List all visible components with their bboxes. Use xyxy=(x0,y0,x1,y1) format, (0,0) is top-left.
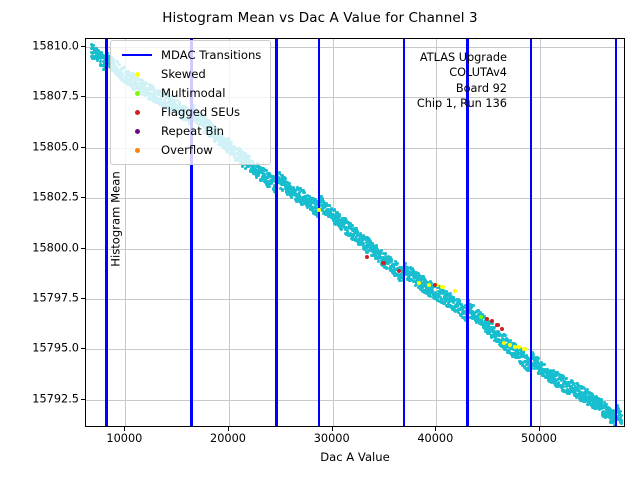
x-axis-ticks: 1000020000300004000050000 xyxy=(85,427,625,451)
flagged-seu-point xyxy=(500,327,504,331)
legend-line-swatch xyxy=(122,54,152,56)
legend-item-skewed[interactable]: Skewed xyxy=(118,65,261,83)
legend-label: Repeat Bin xyxy=(161,124,224,138)
mdac-transition-line xyxy=(530,39,532,426)
legend-key-marker xyxy=(118,72,156,77)
x-tick-mark xyxy=(539,427,540,431)
mdac-transition-line xyxy=(615,39,617,426)
gridline-horizontal xyxy=(86,249,624,250)
gridline-horizontal xyxy=(86,198,624,199)
data-point xyxy=(620,420,623,423)
x-tick-label: 40000 xyxy=(417,432,453,445)
data-point xyxy=(268,185,271,188)
legend-item-repeat-bin[interactable]: Repeat Bin xyxy=(118,122,261,140)
y-axis-ticks: 15792.515795.015797.515800.015802.515805… xyxy=(0,38,85,427)
mdac-transition-line xyxy=(318,39,320,426)
multimodal-point xyxy=(479,315,483,319)
legend-item-flagged-seus[interactable]: Flagged SEUs xyxy=(118,103,261,121)
x-tick-mark xyxy=(124,427,125,431)
annotation-block: ATLAS UpgradeCOLUTAv4Board 92Chip 1, Run… xyxy=(417,50,507,112)
data-point xyxy=(619,410,622,413)
figure-canvas: Histogram Mean vs Dac A Value for Channe… xyxy=(0,0,640,480)
legend-label: Overflow xyxy=(161,143,213,157)
gridline-horizontal xyxy=(86,299,624,300)
data-point xyxy=(543,363,546,366)
legend-label: Skewed xyxy=(161,67,206,81)
legend-label: MDAC Transitions xyxy=(161,48,261,62)
mdac-transition-line xyxy=(403,39,405,426)
legend-dot-swatch xyxy=(135,72,140,77)
annotation-line: ATLAS Upgrade xyxy=(417,50,507,65)
y-tick-label: 15795.0 xyxy=(32,342,79,355)
data-point xyxy=(396,262,399,265)
skewed-point xyxy=(453,289,457,293)
legend-key-marker xyxy=(118,110,156,115)
data-point xyxy=(338,213,341,216)
y-tick-label: 15800.0 xyxy=(32,241,79,254)
x-tick-label: 20000 xyxy=(210,432,246,445)
mdac-transition-line xyxy=(105,39,107,426)
x-tick-mark xyxy=(332,427,333,431)
legend-dot-swatch xyxy=(135,129,140,134)
gridline-horizontal xyxy=(86,349,624,350)
data-point xyxy=(565,377,568,380)
flagged-seu-point xyxy=(381,261,385,265)
legend-dot-swatch xyxy=(135,91,140,96)
data-point xyxy=(290,196,293,199)
legend-key-marker xyxy=(118,129,156,134)
legend-label: Multimodal xyxy=(161,86,225,100)
legend-key-marker xyxy=(118,148,156,153)
skewed-point xyxy=(522,347,526,351)
y-tick-label: 15810.0 xyxy=(32,40,79,53)
y-tick-label: 15802.5 xyxy=(32,191,79,204)
data-point xyxy=(620,414,623,417)
page-title: Histogram Mean vs Dac A Value for Channe… xyxy=(0,10,640,26)
gridline-horizontal xyxy=(86,400,624,401)
skewed-point xyxy=(440,285,444,289)
legend-key-marker xyxy=(118,91,156,96)
skewed-point xyxy=(417,281,421,285)
y-tick-label: 15805.0 xyxy=(32,140,79,153)
legend-dot-swatch xyxy=(135,148,140,153)
x-tick-mark xyxy=(228,427,229,431)
x-axis-label: Dac A Value xyxy=(85,450,625,464)
annotation-line: Chip 1, Run 136 xyxy=(417,96,507,111)
flagged-seu-point xyxy=(397,269,401,273)
legend-item-mdac-transitions[interactable]: MDAC Transitions xyxy=(118,46,261,64)
gridline-vertical xyxy=(333,39,334,426)
legend-item-overflow[interactable]: Overflow xyxy=(118,141,261,159)
x-tick-label: 30000 xyxy=(314,432,350,445)
legend[interactable]: MDAC TransitionsSkewedMultimodalFlagged … xyxy=(110,40,271,165)
data-point xyxy=(472,304,475,307)
flagged-seu-point xyxy=(495,323,499,327)
data-point xyxy=(375,244,378,247)
data-point xyxy=(302,191,305,194)
annotation-line: Board 92 xyxy=(417,81,507,96)
x-tick-label: 50000 xyxy=(521,432,557,445)
annotation-line: COLUTAv4 xyxy=(417,65,507,80)
y-tick-label: 15792.5 xyxy=(32,392,79,405)
y-tick-label: 15797.5 xyxy=(32,292,79,305)
x-tick-label: 10000 xyxy=(106,432,142,445)
legend-label: Flagged SEUs xyxy=(161,105,240,119)
legend-dot-swatch xyxy=(135,110,140,115)
y-tick-label: 15807.5 xyxy=(32,90,79,103)
flagged-seu-point xyxy=(365,255,369,259)
x-tick-mark xyxy=(435,427,436,431)
skewed-point xyxy=(317,208,321,212)
legend-item-multimodal[interactable]: Multimodal xyxy=(118,84,261,102)
mdac-transition-line xyxy=(275,39,277,426)
legend-key-line xyxy=(118,54,156,56)
